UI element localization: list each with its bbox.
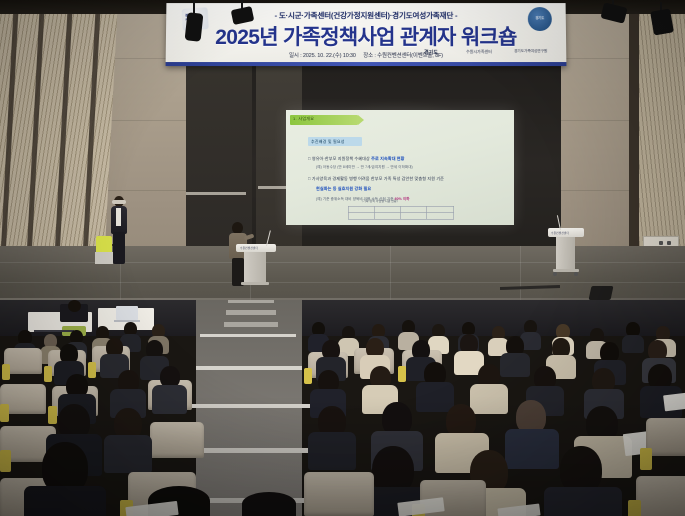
logo-suwon-family-center: 수원시가족센터 (466, 49, 492, 55)
slide-bullet-1: □ 영유아·한부모 지원정책 수혜대상 주로 지속확대 현황 (308, 156, 405, 162)
slide-bullet-2: □ 가사양육과 경제활동 병행 어려움 한부모 가족 특성 감안한 맞춤형 지원… (308, 176, 444, 182)
laptop (116, 306, 138, 320)
banner-bottom-stripe (166, 62, 567, 66)
logo-gyeonggi-do: 경기도 (424, 49, 438, 56)
slide-subnote-1: (예) 아동수당 (만 8세미만 → 만 7세/급여지원 → 만세 이하확대) (316, 165, 413, 170)
logo-gyeonggi-family-foundation: 경기도가족여성연구원 (514, 49, 547, 54)
slide-table-caption: 〈가족 정책 사업별 지원 현황〉 (360, 199, 400, 203)
podium-center: 수원컨벤션센터 (236, 244, 276, 286)
banner-date: 일시 : 2025. 10. 22.(수) 10:30 (289, 53, 356, 59)
seat (304, 472, 374, 516)
slide-subsection-label: 추진배경 및 필요성 (311, 139, 345, 145)
podium-right: 수원컨벤션센터 (548, 228, 584, 276)
auditorium-photo: 1. 사업개요 추진배경 및 필요성 □ 영유아·한부모 지원정책 수혜대상 주… (0, 0, 685, 516)
audience-area (0, 300, 685, 516)
projection-screen: 1. 사업개요 추진배경 및 필요성 □ 영유아·한부모 지원정책 수혜대상 주… (286, 110, 514, 225)
banner-subtitle: - 도·시군·가족센터(건강가정지원센터)·경기도여성가족재단 - (166, 10, 566, 21)
stage-monitor-speaker (589, 286, 614, 300)
banner-info-line: 일시 : 2025. 10. 22.(수) 10:30 장소 : 수원컨벤션센터… (166, 51, 567, 59)
center-aisle (196, 300, 302, 516)
event-banner: 경기도새로운경기 경기도 - 도·시군·가족센터(건강가정지원센터)·경기도여성… (166, 3, 567, 66)
slide-bullet-2-cont: 현실화는 등 실효지원 강화 필요 (316, 186, 371, 192)
slide-section-tab-label: 1. 사업개요 (293, 116, 314, 122)
seat (636, 476, 685, 516)
banner-title: 2025년 가족정책사업 관계자 워크숍 (166, 21, 566, 51)
seat (150, 422, 204, 458)
slide-table (348, 206, 454, 223)
